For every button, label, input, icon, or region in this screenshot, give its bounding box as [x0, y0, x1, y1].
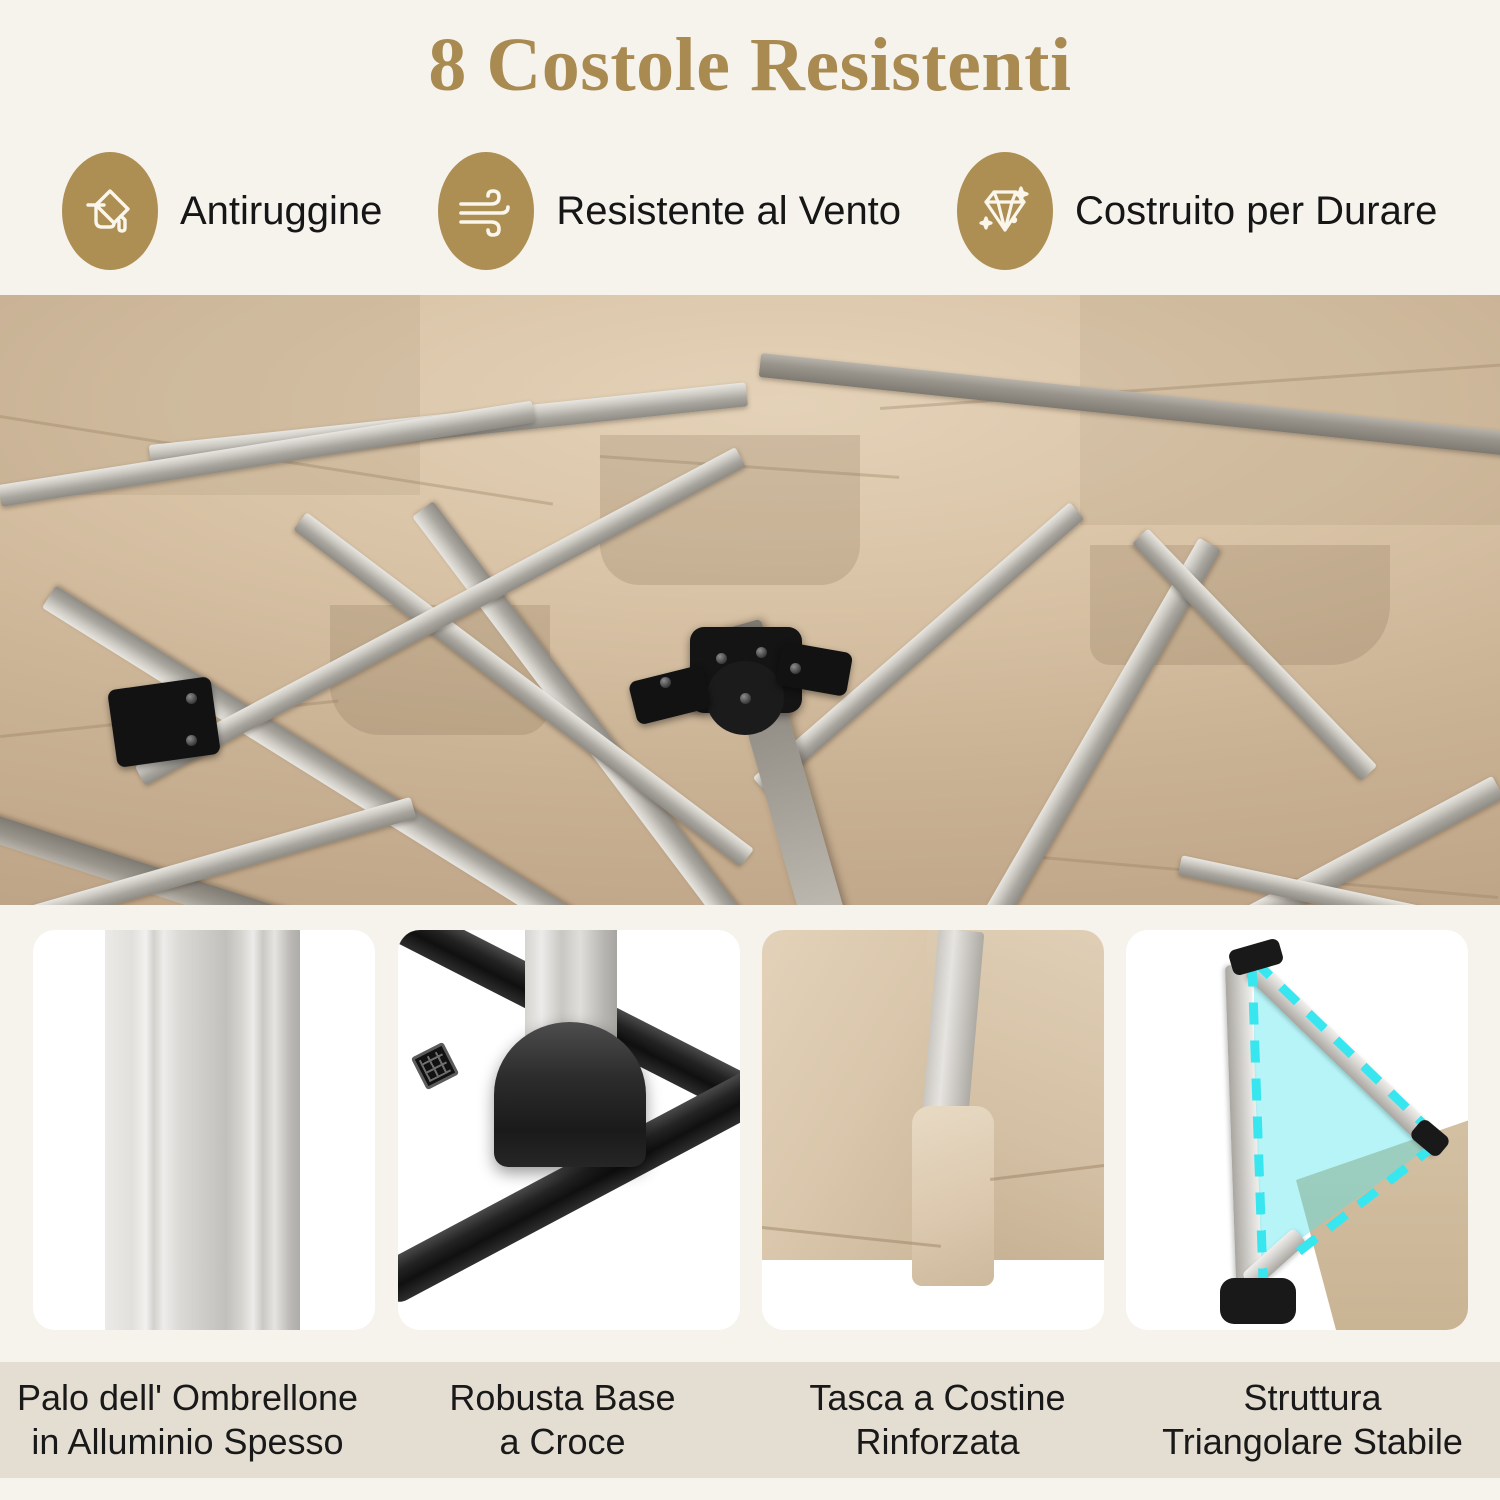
bracket-bolt — [186, 735, 197, 746]
hub-bolt — [716, 653, 727, 664]
caption-row: Palo dell' Ombrellone in Alluminio Spess… — [0, 1362, 1500, 1478]
canopy-fabric-left — [762, 930, 937, 1260]
caption-line-2: Rinforzata — [855, 1421, 1019, 1462]
thumbnail-row — [0, 905, 1500, 1360]
bracket-bolt — [186, 693, 197, 704]
header-section: 8 Costole Resistenti Antiruggine — [0, 0, 1500, 295]
caption-line-2: in Alluminio Spesso — [31, 1421, 343, 1462]
diamond-sparkle-icon — [957, 152, 1053, 270]
caption-line-1: Struttura — [1243, 1377, 1381, 1418]
hero-image-umbrella-underside: Nota: Si prega di ripiegare e riporre l'… — [0, 295, 1500, 905]
reinforced-pocket — [912, 1106, 994, 1286]
hub-bolt — [756, 647, 767, 658]
rib-end-bracket — [107, 676, 221, 768]
caption-cross-base: Robusta Base a Croce — [375, 1362, 750, 1478]
aluminum-pole-closeup — [105, 930, 300, 1330]
caption-line-1: Palo dell' Ombrellone — [17, 1377, 358, 1418]
feature-label: Costruito per Durare — [1075, 189, 1437, 234]
feature-costruito-per-durare: Costruito per Durare — [957, 152, 1437, 270]
feature-row: Antiruggine Resistente al Vento — [0, 152, 1500, 270]
bottom-hub-cap — [1220, 1278, 1296, 1324]
feature-antiruggine: Antiruggine — [62, 152, 382, 270]
feature-resistente-al-vento: Resistente al Vento — [438, 152, 901, 270]
thumb-image — [762, 930, 1104, 1330]
caption-line-1: Robusta Base — [449, 1377, 675, 1418]
feature-label: Antiruggine — [180, 189, 382, 234]
thumb-cross-base[interactable] — [398, 930, 740, 1330]
thumb-image — [1126, 930, 1468, 1330]
hub-bolt — [790, 663, 801, 674]
cross-base-hub — [494, 1022, 646, 1167]
thumb-image — [398, 930, 740, 1330]
wind-icon — [438, 152, 534, 270]
caption-aluminum-pole: Palo dell' Ombrellone in Alluminio Spess… — [0, 1362, 375, 1478]
thumb-aluminum-pole[interactable] — [33, 930, 375, 1330]
infographic-page: 8 Costole Resistenti Antiruggine — [0, 0, 1500, 1500]
base-vent-icon — [411, 1042, 459, 1090]
caption-rib-pocket: Tasca a Costine Rinforzata — [750, 1362, 1125, 1478]
feature-label: Resistente al Vento — [556, 189, 901, 234]
caption-line-2: a Croce — [499, 1421, 625, 1462]
thumb-rib-pocket[interactable] — [762, 930, 1104, 1330]
caption-triangular-frame: Struttura Triangolare Stabile — [1125, 1362, 1500, 1478]
hub-bolt — [740, 693, 751, 704]
thumb-triangular-frame[interactable] — [1126, 930, 1468, 1330]
caption-line-2: Triangolare Stabile — [1162, 1421, 1463, 1462]
rust-proof-coating-icon — [62, 152, 158, 270]
page-title: 8 Costole Resistenti — [0, 22, 1500, 109]
caption-line-1: Tasca a Costine — [809, 1377, 1065, 1418]
thumb-image — [33, 930, 375, 1330]
vent-grid — [419, 1050, 451, 1082]
hub-bolt — [660, 677, 671, 688]
